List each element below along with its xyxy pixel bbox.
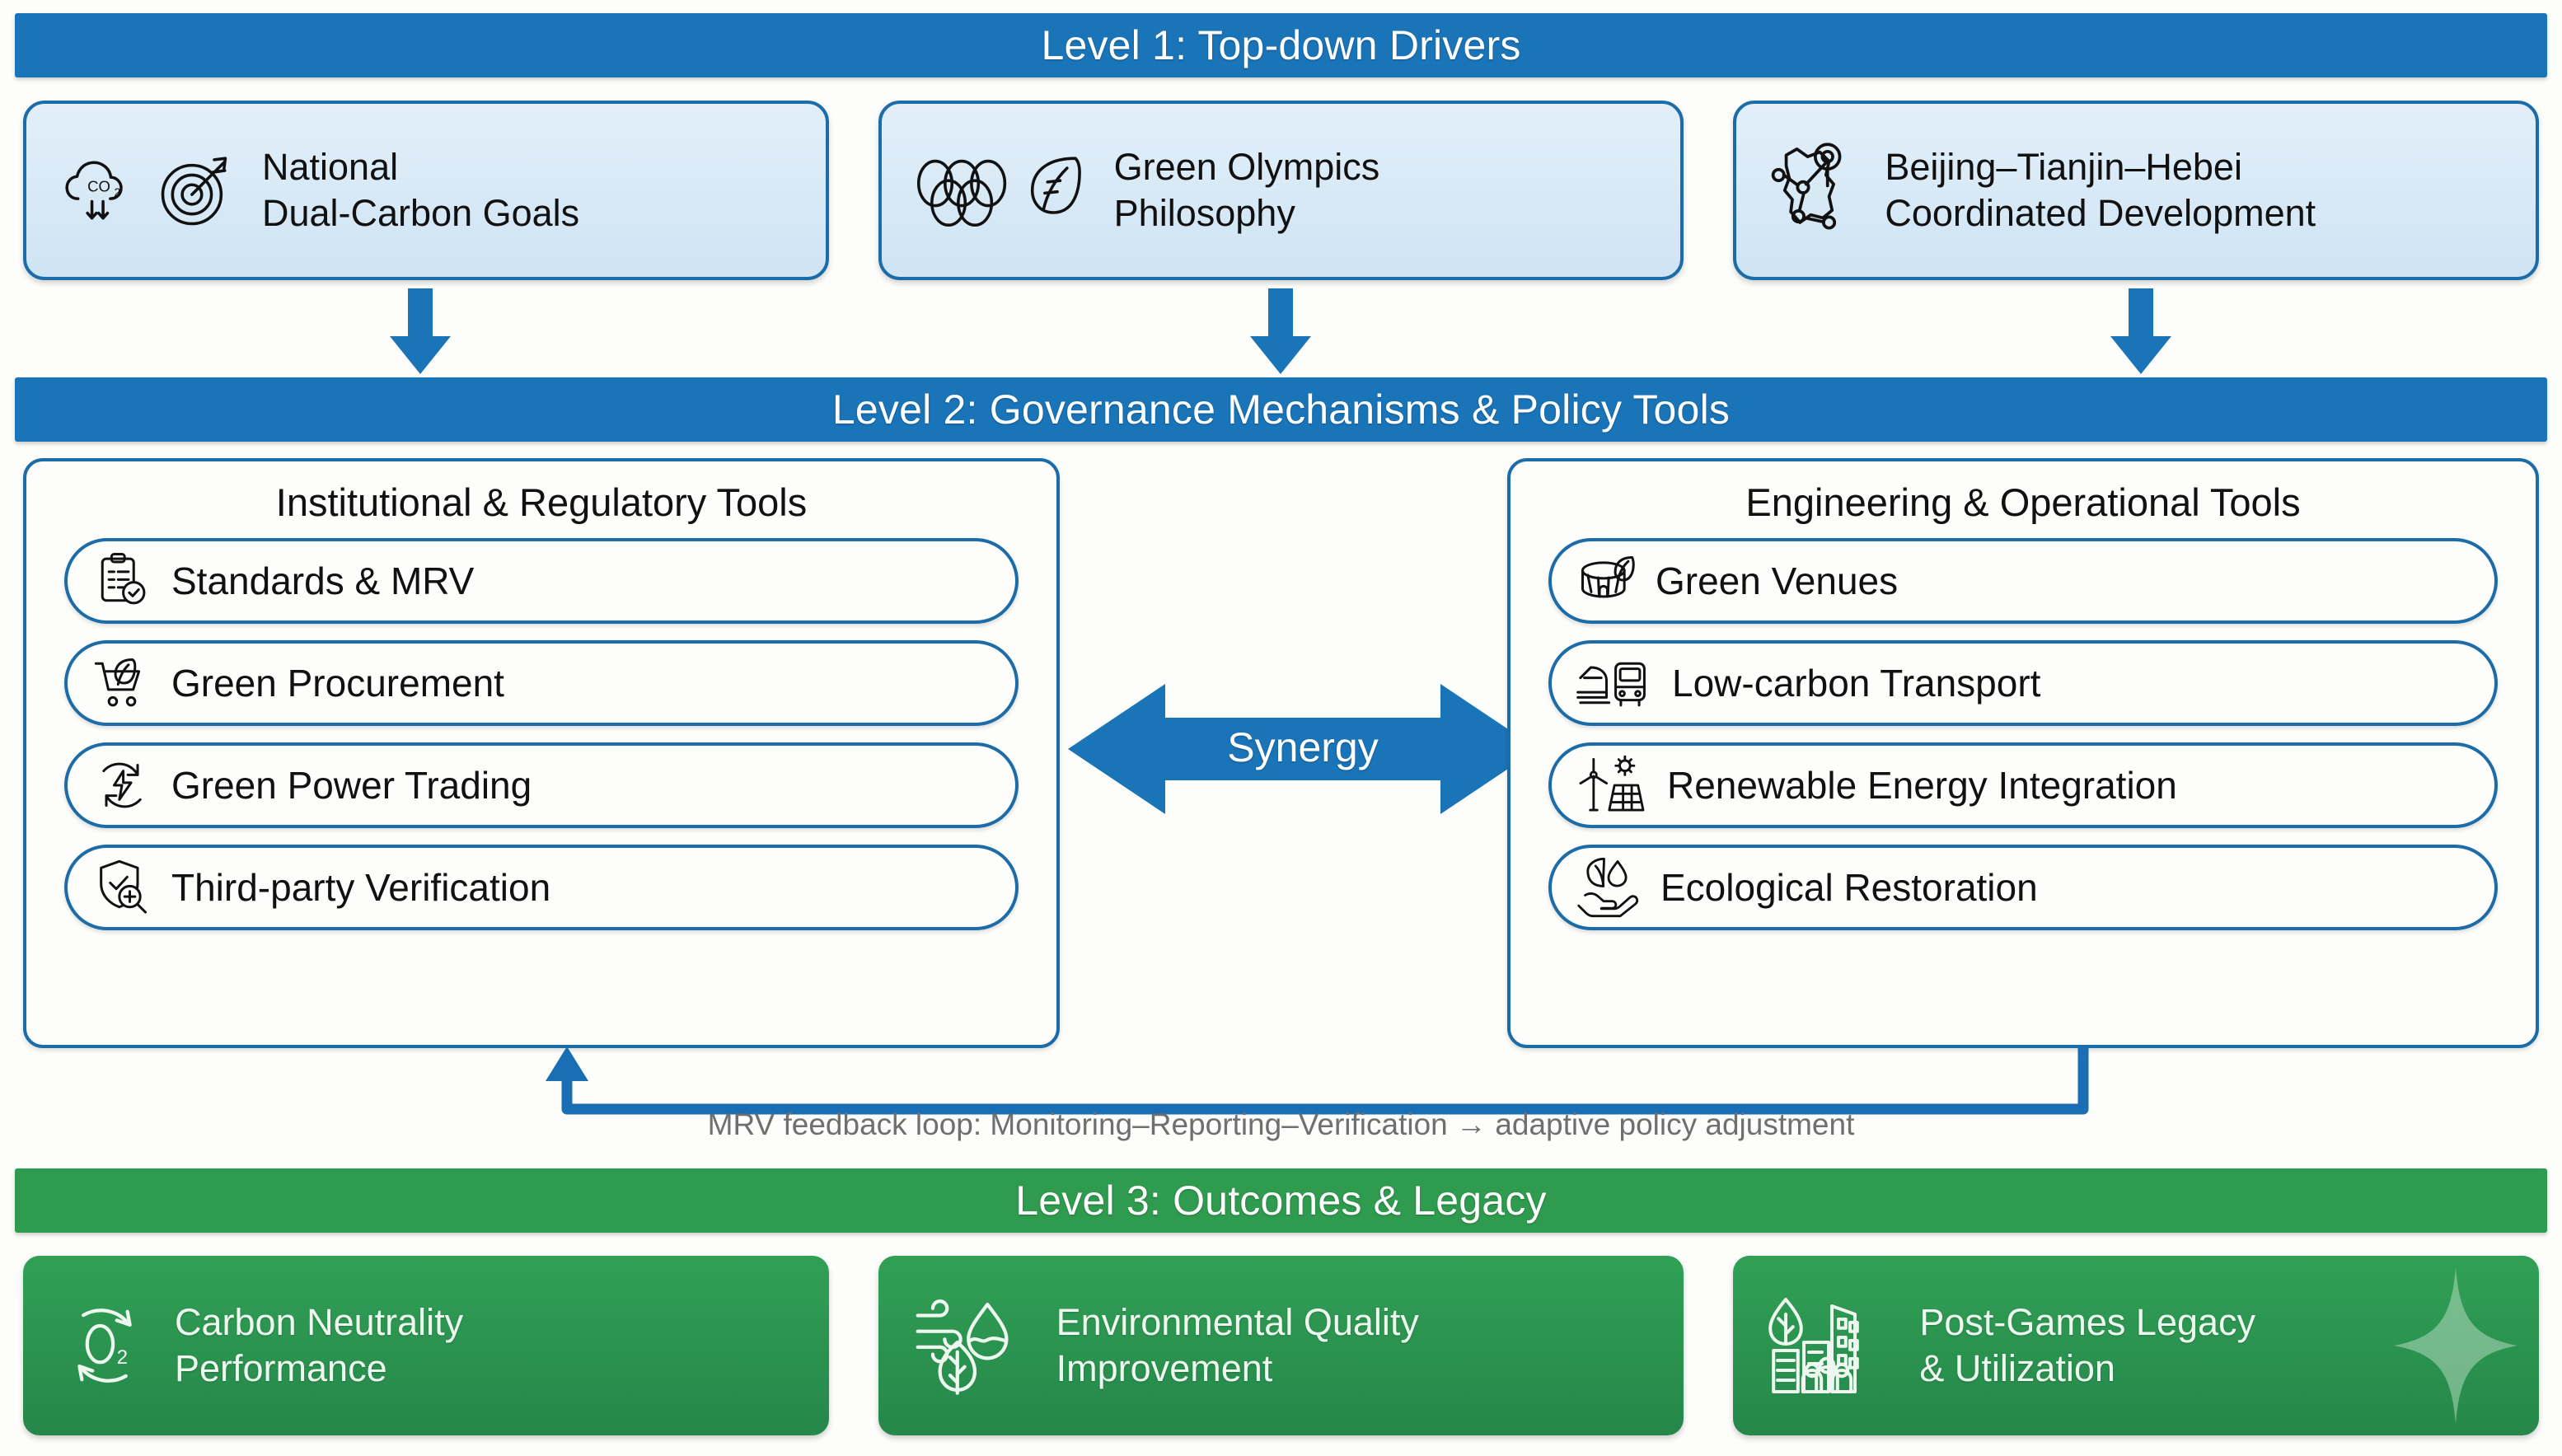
- wind-turbine-solar-icon: [1575, 754, 1649, 817]
- pill-label: Ecological Restoration: [1660, 865, 2038, 910]
- pill-label: Green Venues: [1656, 559, 1898, 603]
- outcome-card-post-games-legacy[interactable]: Post-Games Legacy & Utilization: [1733, 1256, 2539, 1435]
- shopping-cart-leaf-icon: [91, 652, 153, 714]
- driver-label: National Dual-Carbon Goals: [262, 144, 579, 236]
- lightning-recycle-icon: [91, 754, 153, 817]
- down-arrow-driver-1: [383, 288, 457, 374]
- pill-green-power-trading[interactable]: Green Power Trading: [64, 742, 1019, 828]
- wind-drop-leaf-icon: [911, 1294, 1035, 1397]
- down-arrow-driver-2: [1244, 288, 1318, 374]
- map-network-pin-icon: [1764, 137, 1863, 244]
- mrv-feedback-caption: MRV feedback loop: Monitoring–Reporting–…: [0, 1107, 2562, 1142]
- outcome-card-environmental-quality[interactable]: Environmental Quality Improvement: [878, 1256, 1684, 1435]
- level3-outcome-row: 2 Carbon Neutrality Performance Environm…: [23, 1256, 2539, 1435]
- co2-cloud-icon: CO 2: [54, 146, 143, 235]
- tree-buildings-people-icon: [1766, 1293, 1898, 1398]
- pill-label: Standards & MRV: [171, 559, 474, 603]
- level1-title: Level 1: Top-down Drivers: [1041, 21, 1520, 69]
- level2-banner: Level 2: Governance Mechanisms & Policy …: [15, 377, 2547, 442]
- level1-banner: Level 1: Top-down Drivers: [15, 13, 2547, 77]
- driver-icon-group: CO 2: [54, 146, 241, 235]
- stadium-leaf-icon: [1575, 550, 1637, 612]
- synergy-arrow: Synergy: [1068, 679, 1538, 819]
- panel-title-left: Institutional & Regulatory Tools: [26, 480, 1056, 525]
- pill-label: Third-party Verification: [171, 865, 550, 910]
- driver-label: Green Olympics Philosophy: [1114, 144, 1380, 236]
- pill-standards-mrv[interactable]: Standards & MRV: [64, 538, 1019, 624]
- svg-text:2: 2: [115, 186, 121, 199]
- pill-label: Green Power Trading: [171, 763, 532, 808]
- level3-title: Level 3: Outcomes & Legacy: [1015, 1177, 1546, 1224]
- pill-renewable-energy-integration[interactable]: Renewable Energy Integration: [1548, 742, 2498, 828]
- panel-engineering-operational: Engineering & Operational Tools Gre: [1507, 458, 2539, 1048]
- target-dart-icon: [152, 146, 241, 235]
- clipboard-check-icon: [91, 550, 153, 612]
- sparkle-icon: [2394, 1267, 2518, 1424]
- left-pill-list: Standards & MRV Green Procurement: [26, 538, 1056, 930]
- level2-title: Level 2: Governance Mechanisms & Policy …: [832, 386, 1730, 433]
- diagram-canvas: Level 1: Top-down Drivers CO 2: [0, 0, 2562, 1456]
- leaf-icon: [1014, 146, 1093, 235]
- hand-leaf-drop-icon: [1575, 856, 1642, 919]
- driver-card-bth-coordination[interactable]: Beijing–Tianjin–Hebei Coordinated Develo…: [1733, 101, 2539, 280]
- panel-title-right: Engineering & Operational Tools: [1511, 480, 2536, 525]
- driver-card-dual-carbon[interactable]: CO 2 Nation: [23, 101, 829, 280]
- outcome-label: Post-Games Legacy & Utilization: [1919, 1299, 2255, 1392]
- driver-icon-group: [910, 146, 1093, 235]
- right-pill-list: Green Venues: [1511, 538, 2536, 930]
- outcome-label: Environmental Quality Improvement: [1056, 1299, 1419, 1392]
- driver-icon-group: [1764, 137, 1863, 244]
- down-arrow-driver-3: [2104, 288, 2178, 374]
- driver-card-green-olympics[interactable]: Green Olympics Philosophy: [878, 101, 1684, 280]
- driver-label: Beijing–Tianjin–Hebei Coordinated Develo…: [1885, 144, 2316, 236]
- level3-banner: Level 3: Outcomes & Legacy: [15, 1168, 2547, 1233]
- outcome-card-carbon-neutrality[interactable]: 2 Carbon Neutrality Performance: [23, 1256, 829, 1435]
- shield-magnifier-icon: [91, 856, 153, 919]
- pill-label: Low-carbon Transport: [1672, 661, 2040, 705]
- pill-third-party-verification[interactable]: Third-party Verification: [64, 845, 1019, 930]
- o2-cycle-icon: 2: [56, 1297, 153, 1394]
- pill-green-procurement[interactable]: Green Procurement: [64, 640, 1019, 726]
- level1-driver-row: CO 2 Nation: [23, 101, 2539, 280]
- synergy-label: Synergy: [1068, 723, 1538, 771]
- pill-ecological-restoration[interactable]: Ecological Restoration: [1548, 845, 2498, 930]
- level2-body: Institutional & Regulatory Tools Standar…: [23, 458, 2539, 1051]
- panel-institutional-regulatory: Institutional & Regulatory Tools Standar…: [23, 458, 1060, 1048]
- pill-label: Green Procurement: [171, 661, 504, 705]
- svg-text:2: 2: [117, 1346, 128, 1369]
- pill-low-carbon-transport[interactable]: Low-carbon Transport: [1548, 640, 2498, 726]
- train-bus-icon: [1575, 652, 1654, 714]
- pill-green-venues[interactable]: Green Venues: [1548, 538, 2498, 624]
- outcome-label: Carbon Neutrality Performance: [175, 1299, 463, 1392]
- pill-label: Renewable Energy Integration: [1667, 763, 2177, 808]
- svg-text:CO: CO: [87, 178, 110, 195]
